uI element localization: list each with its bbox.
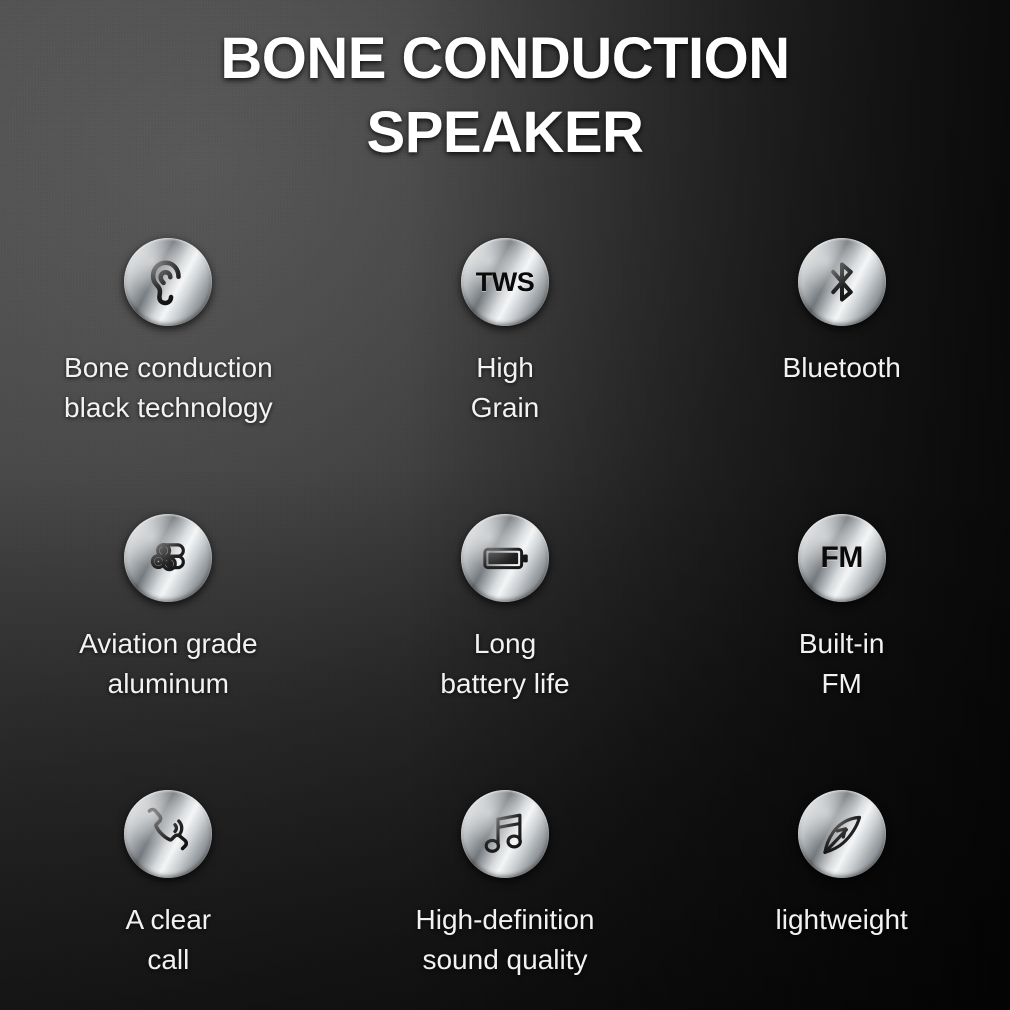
feature-caption-line-1: High-definition [416, 900, 595, 940]
feature-caption-line-2: call [126, 940, 212, 980]
feature-item-clear-call: A clear call [0, 790, 337, 1010]
music-note-icon [461, 790, 549, 878]
feature-caption-line-1: Bone conduction [64, 348, 273, 388]
fm-text-icon: FM [798, 514, 886, 602]
feature-row: A clear call [0, 790, 1010, 1010]
product-feature-poster: BONE CONDUCTION SPEAKER [0, 0, 1010, 1010]
feature-item-builtin-fm: FM Built-in FM [673, 514, 1010, 790]
feature-caption: Built-in FM [799, 624, 885, 704]
feature-caption: High Grain [471, 348, 539, 428]
feature-item-bone-conduction: Bone conduction black technology [0, 238, 337, 514]
feature-caption-line-1: Long [440, 624, 569, 664]
aluminum-tubes-icon [124, 514, 212, 602]
feature-item-hd-sound: High-definition sound quality [337, 790, 674, 1010]
feature-badge [798, 790, 886, 878]
feature-row: Bone conduction black technology TWS Hig… [0, 238, 1010, 514]
feature-caption-line-1: Aviation grade [79, 624, 258, 664]
battery-full-icon [461, 514, 549, 602]
feature-caption-line-2: black technology [64, 388, 273, 428]
feature-caption: lightweight [776, 900, 908, 940]
feature-caption-line-2: FM [799, 664, 885, 704]
feature-caption: High-definition sound quality [416, 900, 595, 980]
feature-badge [461, 790, 549, 878]
feature-caption: A clear call [126, 900, 212, 980]
page-title-line-2: SPEAKER [0, 96, 1010, 170]
feather-icon [798, 790, 886, 878]
feature-caption-line-1: lightweight [776, 900, 908, 940]
feature-caption: Bone conduction black technology [64, 348, 273, 428]
feature-caption-line-2: battery life [440, 664, 569, 704]
phone-call-icon [124, 790, 212, 878]
feature-caption-line-2: Grain [471, 388, 539, 428]
feature-item-bluetooth: Bluetooth [673, 238, 1010, 514]
feature-caption: Aviation grade aluminum [79, 624, 258, 704]
bluetooth-icon [798, 238, 886, 326]
feature-badge [798, 238, 886, 326]
feature-badge [124, 238, 212, 326]
feature-caption: Bluetooth [783, 348, 901, 388]
tws-text-icon: TWS [461, 238, 549, 326]
page-title: BONE CONDUCTION SPEAKER [0, 22, 1010, 170]
feature-caption-line-1: A clear [126, 900, 212, 940]
feature-item-aviation-aluminum: Aviation grade aluminum [0, 514, 337, 790]
page-title-line-1: BONE CONDUCTION [0, 22, 1010, 96]
feature-caption-line-1: High [471, 348, 539, 388]
feature-badge [461, 514, 549, 602]
feature-badge: TWS [461, 238, 549, 326]
poster-content: BONE CONDUCTION SPEAKER [0, 0, 1010, 1010]
feature-caption-line-1: Bluetooth [783, 348, 901, 388]
feature-caption-line-1: Built-in [799, 624, 885, 664]
feature-badge [124, 514, 212, 602]
feature-row: Aviation grade aluminum [0, 514, 1010, 790]
feature-caption: Long battery life [440, 624, 569, 704]
feature-badge: FM [798, 514, 886, 602]
feature-item-lightweight: lightweight [673, 790, 1010, 1010]
feature-item-battery-life: Long battery life [337, 514, 674, 790]
feature-badge [124, 790, 212, 878]
feature-caption-line-2: aluminum [79, 664, 258, 704]
feature-caption-line-2: sound quality [416, 940, 595, 980]
fm-label: FM [821, 541, 863, 575]
ear-icon [124, 238, 212, 326]
feature-item-high-grain: TWS High Grain [337, 238, 674, 514]
tws-label: TWS [476, 267, 535, 298]
feature-grid: Bone conduction black technology TWS Hig… [0, 238, 1010, 1010]
